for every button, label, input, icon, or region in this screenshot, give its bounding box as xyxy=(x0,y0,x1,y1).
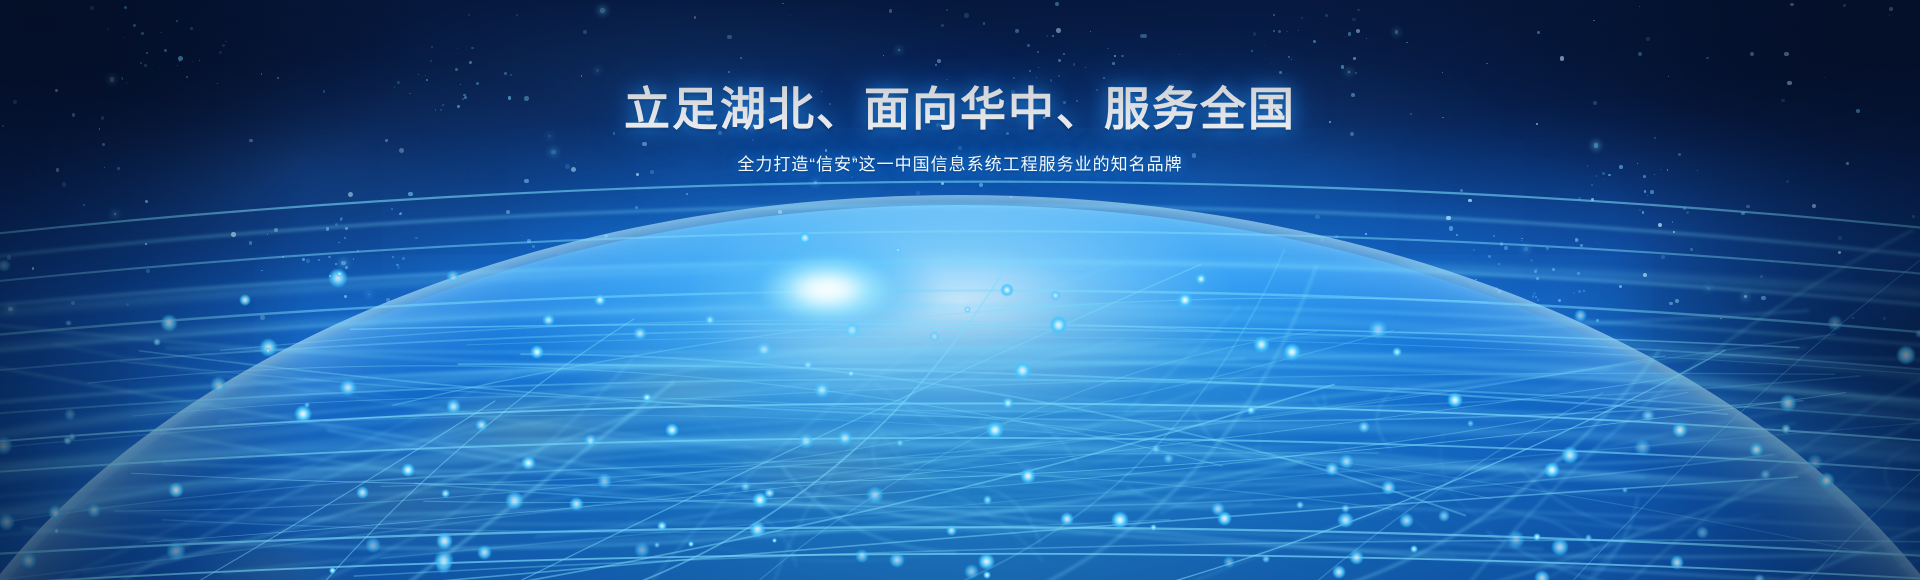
page-title: 立足湖北、面向华中、服务全国 xyxy=(0,82,1920,137)
banner-text: 立足湖北、面向华中、服务全国 全力打造“信安”这一中国信息系统工程服务业的知名品… xyxy=(0,82,1920,177)
horizon-light-burst xyxy=(712,232,942,347)
page-subtitle: 全力打造“信安”这一中国信息系统工程服务业的知名品牌 xyxy=(0,153,1920,177)
hero-banner: 立足湖北、面向华中、服务全国 全力打造“信安”这一中国信息系统工程服务业的知名品… xyxy=(0,0,1920,580)
